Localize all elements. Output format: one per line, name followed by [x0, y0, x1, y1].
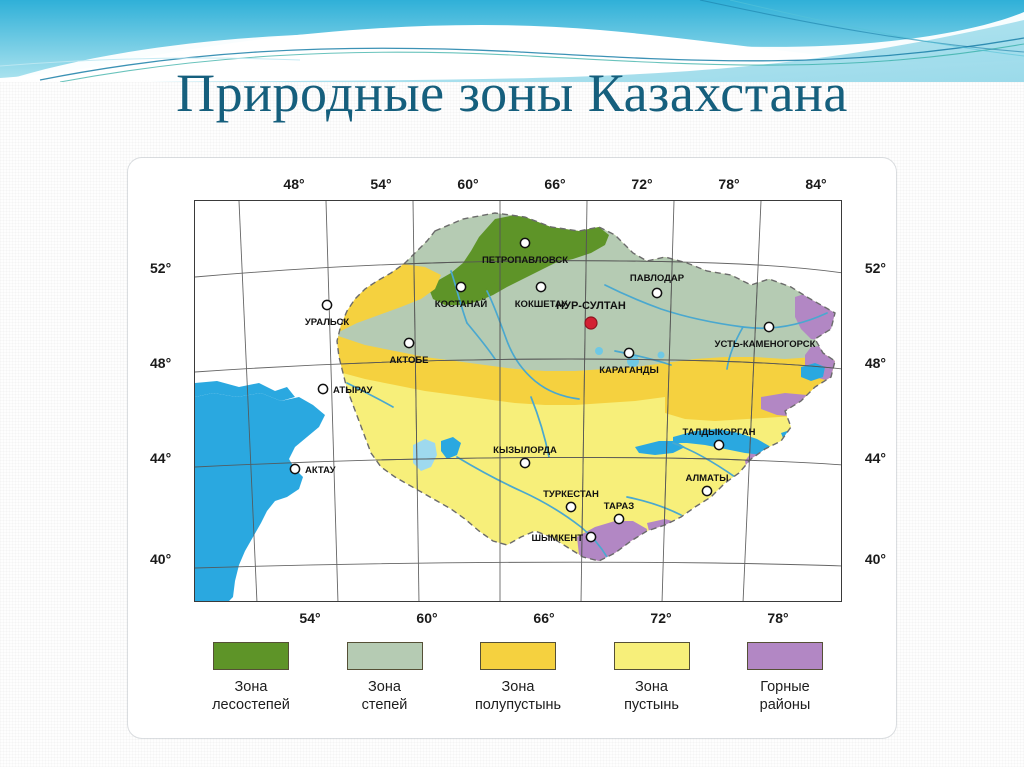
- city-label: ПЕТРОПАВЛОВСК: [482, 255, 568, 266]
- city-label: УРАЛЬСК: [305, 317, 350, 328]
- capital-label: НУР-СУЛТАН: [556, 300, 626, 312]
- longitude-label-top: 72°: [631, 176, 652, 192]
- city-label: КЫЗЫЛОРДА: [493, 445, 557, 456]
- city-marker: [456, 282, 465, 291]
- city-label: АКТАУ: [305, 465, 336, 476]
- city-marker: [702, 486, 711, 495]
- map-legend: Зона лесостепей Зона степей Зона полупус…: [150, 642, 886, 728]
- city-label: УСТЬ-КАМЕНОГОРСК: [715, 339, 816, 350]
- legend-label-mountain: Горные районы: [760, 679, 811, 714]
- longitude-label-bottom: 60°: [416, 610, 437, 626]
- longitude-label-bottom: 54°: [299, 610, 320, 626]
- legend-item-mountain: Горные районы: [726, 642, 844, 714]
- city-marker: [624, 348, 633, 357]
- legend-label-semi-desert: Зона полупустынь: [475, 679, 561, 714]
- capital-marker: [585, 317, 597, 329]
- city-marker: [566, 502, 575, 511]
- legend-label-forest-steppe: Зона лесостепей: [212, 679, 290, 714]
- city-marker: [764, 322, 773, 331]
- longitude-label-bottom: 66°: [533, 610, 554, 626]
- longitude-label-top: 54°: [370, 176, 391, 192]
- latitude-label-left: 44°: [150, 450, 171, 466]
- legend-item-desert: Зона пустынь: [593, 642, 711, 714]
- slide-canvas: Природные зоны Казахстана 48° 54° 60° 66…: [0, 0, 1024, 767]
- city-marker: [714, 440, 723, 449]
- legend-swatch-forest-steppe: [213, 642, 289, 670]
- city-label: ПАВЛОДАР: [630, 273, 685, 284]
- city-label: ТАЛДЫКОРГАН: [683, 427, 756, 438]
- longitude-label-bottom: 78°: [767, 610, 788, 626]
- longitude-label-top: 84°: [805, 176, 826, 192]
- city-marker: [652, 288, 661, 297]
- latitude-label-right: 40°: [865, 551, 886, 567]
- legend-swatch-mountain: [747, 642, 823, 670]
- city-label: ТУРКЕСТАН: [543, 489, 599, 500]
- latitude-label-right: 52°: [865, 260, 886, 276]
- city-label: КОСТАНАЙ: [435, 298, 488, 310]
- city-label: ШЫМКЕНТ: [531, 533, 583, 544]
- city-marker: [520, 238, 529, 247]
- longitude-label-top: 78°: [718, 176, 739, 192]
- longitude-label-top: 48°: [283, 176, 304, 192]
- latitude-label-right: 48°: [865, 355, 886, 371]
- city-label: ТАРАЗ: [604, 501, 634, 512]
- city-label: АКТОБЕ: [389, 355, 428, 366]
- city-label: КАРАГАНДЫ: [599, 365, 659, 376]
- legend-swatch-desert: [614, 642, 690, 670]
- city-marker: [318, 384, 327, 393]
- city-marker: [536, 282, 545, 291]
- page-title: Природные зоны Казахстана: [0, 62, 1024, 124]
- latitude-label-left: 40°: [150, 551, 171, 567]
- legend-item-semi-desert: Зона полупустынь: [459, 642, 577, 714]
- city-label: АТЫРАУ: [333, 385, 372, 396]
- legend-label-desert: Зона пустынь: [624, 679, 679, 714]
- city-marker: [322, 300, 331, 309]
- legend-swatch-semi-desert: [480, 642, 556, 670]
- legend-label-steppe: Зона степей: [362, 679, 408, 714]
- legend-item-steppe: Зона степей: [326, 642, 444, 714]
- latitude-label-left: 52°: [150, 260, 171, 276]
- longitude-label-top: 66°: [544, 176, 565, 192]
- latitude-label-left: 48°: [150, 355, 171, 371]
- city-marker: [290, 464, 299, 473]
- legend-swatch-steppe: [347, 642, 423, 670]
- city-marker: [614, 514, 623, 523]
- city-marker: [520, 458, 529, 467]
- city-label: АЛМАТЫ: [685, 473, 728, 484]
- city-marker: [404, 338, 413, 347]
- map-frame: ПЕТРОПАВЛОВСК КОСТАНАЙ КОКШЕТАУ ПАВЛОДАР…: [194, 200, 842, 602]
- latitude-label-right: 44°: [865, 450, 886, 466]
- city-marker: [586, 532, 595, 541]
- legend-item-forest-steppe: Зона лесостепей: [192, 642, 310, 714]
- map-container: 48° 54° 60° 66° 72° 78° 84° 54° 60° 66° …: [150, 176, 886, 626]
- longitude-label-bottom: 72°: [650, 610, 671, 626]
- longitude-label-top: 60°: [457, 176, 478, 192]
